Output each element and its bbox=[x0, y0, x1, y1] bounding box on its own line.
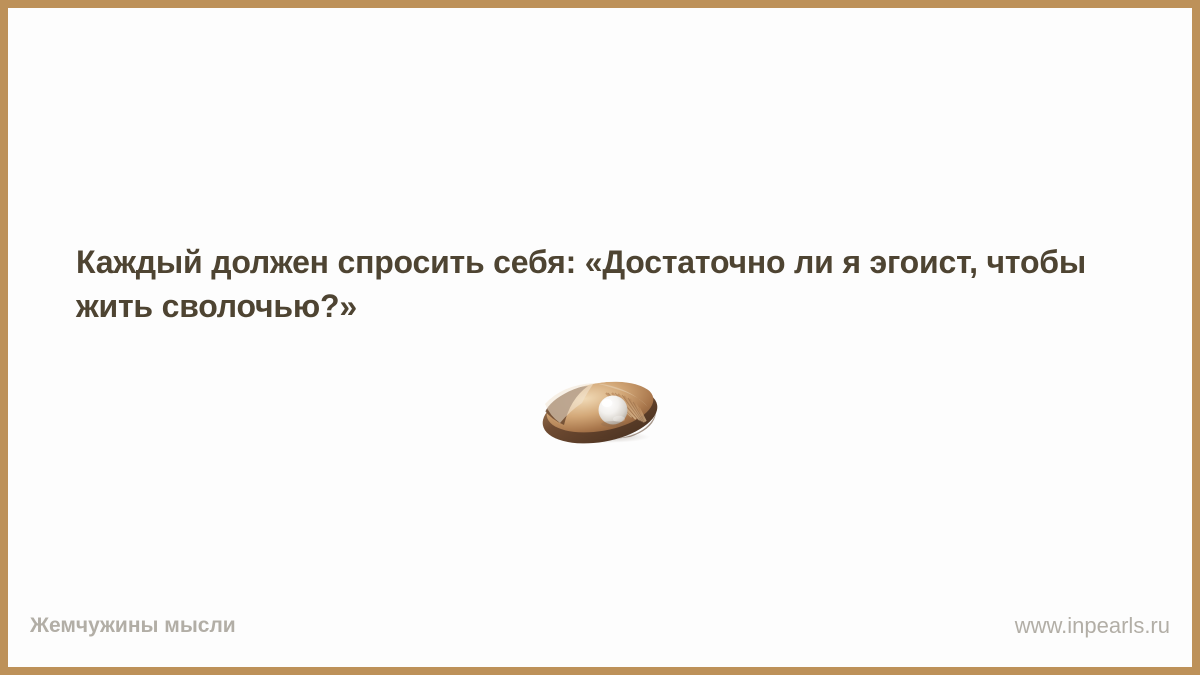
quote-block: Каждый должен спросить себя: «Достаточно… bbox=[76, 240, 1151, 328]
quote-card: Каждый должен спросить себя: «Достаточно… bbox=[0, 0, 1200, 675]
footer-brand: Жемчужины мысли bbox=[30, 614, 236, 638]
emblem-container bbox=[8, 372, 1192, 446]
footer: Жемчужины мысли www.inpearls.ru bbox=[8, 611, 1192, 641]
footer-site-link[interactable]: www.inpearls.ru bbox=[1015, 613, 1170, 639]
quote-text: Каждый должен спросить себя: «Достаточно… bbox=[76, 240, 1151, 328]
oyster-shell-with-pearl-icon bbox=[536, 373, 664, 445]
